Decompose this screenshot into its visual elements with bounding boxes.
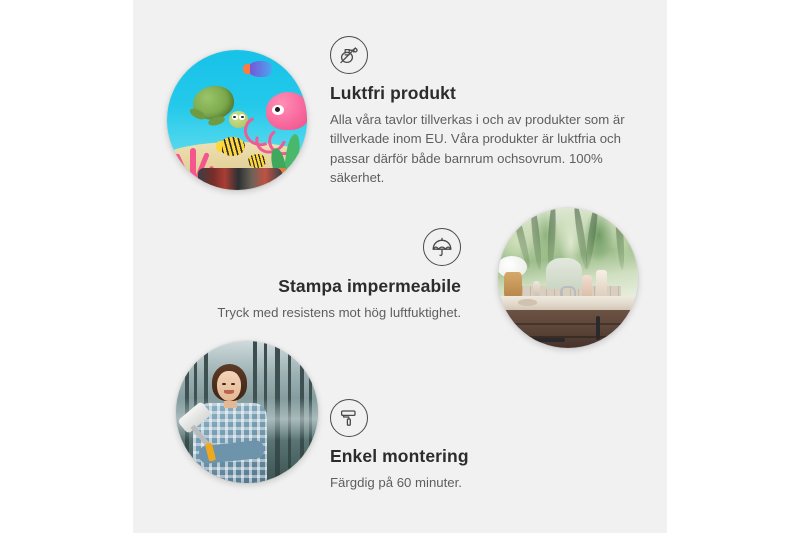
turtle-eye	[239, 114, 245, 119]
feature-waterproof: Stampa impermeabile Tryck med resistens …	[196, 228, 461, 322]
eye	[231, 383, 234, 385]
toiletry-bottle	[533, 281, 540, 296]
feature-title: Enkel montering	[330, 446, 590, 467]
image-bathroom-mural	[498, 208, 638, 348]
soap-dish	[518, 299, 538, 306]
turtle-eye	[232, 114, 238, 119]
feature-odour-free: Luktfri produkt Alla våra tavlor tillver…	[330, 36, 630, 187]
feature-description: Alla våra tavlor tillverkas i och av pro…	[330, 110, 630, 187]
smile	[224, 390, 234, 394]
face	[217, 371, 241, 401]
wooden-vanity-cabinet	[498, 310, 638, 348]
toiletry-bottle	[582, 275, 592, 297]
toiletry-bottle	[596, 270, 607, 298]
sea-turtle	[189, 86, 245, 128]
feature-easy-mounting: Enkel montering Färgdig på 60 minuter.	[330, 399, 590, 492]
feature-description: Färgdig på 60 minuter.	[330, 473, 590, 492]
shipwreck-foreground	[198, 168, 282, 190]
image-painter-mural	[176, 341, 318, 483]
feature-description: Tryck med resistens mot hög luftfuktighe…	[196, 303, 461, 322]
yellow-striped-fish	[248, 154, 266, 168]
promo-feature-panel: Luktfri produkt Alla våra tavlor tillver…	[0, 0, 800, 533]
paint-roller-icon	[330, 399, 368, 437]
feature-title: Stampa impermeabile	[196, 276, 461, 297]
eye	[222, 383, 225, 385]
mirror	[546, 258, 582, 289]
purple-fish	[248, 61, 272, 76]
umbrella-icon	[423, 228, 461, 266]
octopus-eye	[272, 105, 283, 116]
image-ocean-mural	[167, 50, 307, 190]
feature-title: Luktfri produkt	[330, 83, 630, 104]
no-odour-spray-bottle-icon	[330, 36, 368, 74]
